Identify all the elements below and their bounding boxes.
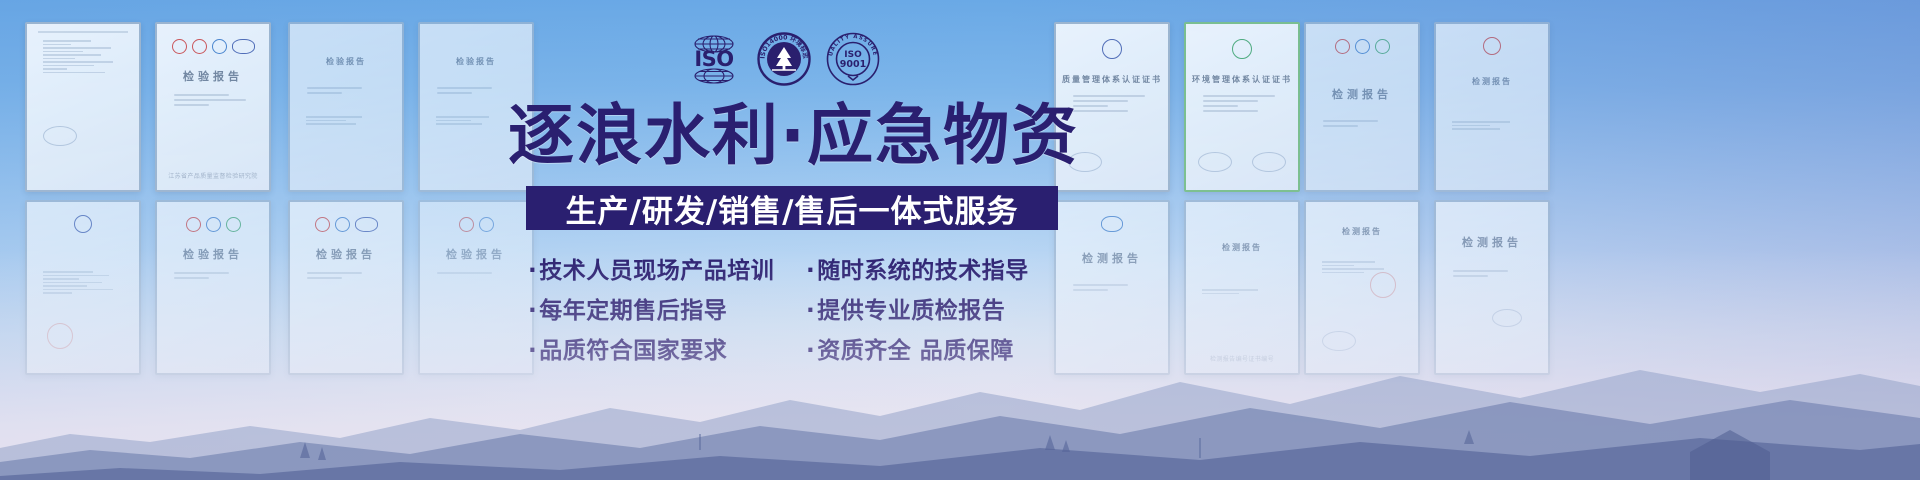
- certificate-title: 质量管理体系认证证书: [1062, 74, 1162, 85]
- certificate-card: 检验报告 江苏省产品质量监督检验研究院: [155, 22, 271, 192]
- iso-logo-icon: ISO: [686, 33, 742, 85]
- feature-text: 技术人员现场产品培训: [539, 258, 774, 284]
- certificate-card: 检测报告: [1434, 22, 1550, 192]
- bullet-icon: ·: [806, 258, 815, 284]
- bullet-icon: ·: [806, 298, 815, 324]
- svg-text:9001: 9001: [840, 59, 866, 70]
- certificate-title: 检验报告: [183, 246, 243, 262]
- certificate-card: 环境管理体系认证证书: [1184, 22, 1300, 192]
- feature-text: 随时系统的技术指导: [817, 258, 1029, 284]
- banner-subtitle-text: 生产/研发/销售/售后一体式服务: [566, 186, 1019, 231]
- bullet-icon: ·: [528, 258, 537, 284]
- certificate-title: 检验报告: [326, 56, 366, 67]
- certificate-card: 检测报告: [1304, 22, 1420, 192]
- certificate-title: 检测报告: [1082, 250, 1142, 266]
- feature-item: ·随时系统的技术指导: [806, 251, 1060, 285]
- svg-text:ISO: ISO: [694, 47, 733, 71]
- feature-item: ·每年定期售后指导: [528, 291, 806, 325]
- certificate-title: 检验报告: [316, 246, 376, 262]
- bullet-icon: ·: [528, 298, 537, 324]
- certificate-title: 检测报告: [1472, 76, 1512, 87]
- mountain-silhouette: [0, 330, 1920, 480]
- banner-title: 逐浪水利·应急物资: [508, 96, 1068, 176]
- certificate-title: 环境管理体系认证证书: [1192, 74, 1292, 85]
- certificate-title: 检验报告: [456, 56, 496, 67]
- iso14000-environment-seal-icon: ISO14000 环境标志: [757, 32, 811, 86]
- iso9001-quality-seal-icon: ISO 9001 QUALITY ASSURED: [826, 32, 880, 86]
- certificate-title: 检测报告: [1462, 234, 1522, 250]
- certificate-footer: 江苏省产品质量监督检验研究院: [157, 171, 269, 180]
- feature-item: ·技术人员现场产品培训: [528, 251, 806, 285]
- certificate-card: 检验报告: [288, 22, 404, 192]
- feature-item: ·提供专业质检报告: [806, 291, 1060, 325]
- certificate-title: 检测报告: [1332, 86, 1392, 102]
- certificate-title: 检验报告: [183, 68, 243, 84]
- feature-text: 提供专业质检报告: [817, 298, 1005, 324]
- certificate-title: 检测报告: [1222, 242, 1262, 253]
- feature-text: 每年定期售后指导: [539, 298, 727, 324]
- promotional-banner: 检验报告 江苏省产品质量监督检验研究院 检验报告 检验报告: [0, 0, 1920, 480]
- certificate-card: [25, 22, 141, 192]
- certification-logo-row: ISO ISO14000 环境标志 ISO 9001 QUALITY ASSUR…: [686, 30, 880, 88]
- certificate-title: 检测报告: [1342, 226, 1382, 237]
- banner-subtitle-bar: 生产/研发/销售/售后一体式服务: [526, 186, 1058, 230]
- certificate-title: 检验报告: [446, 246, 506, 262]
- certificate-logos: [172, 38, 255, 54]
